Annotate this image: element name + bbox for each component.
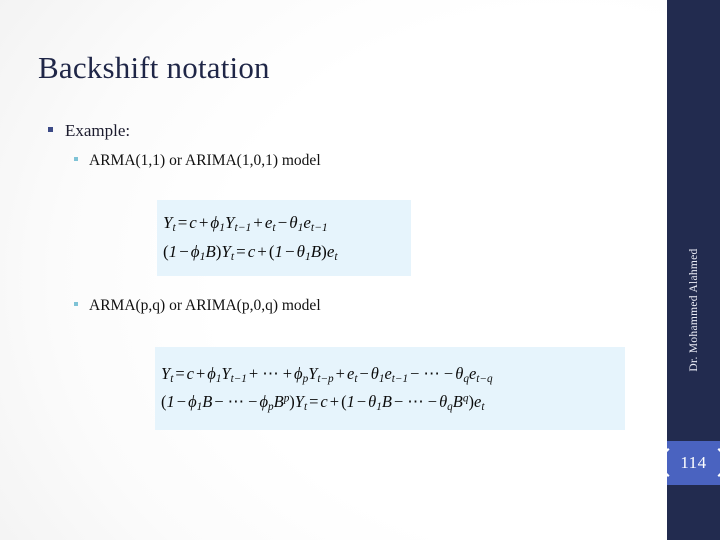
equation-box-arma-1-1: Yt=c+ϕ1Yt−1+et−θ1et−1 (1−ϕ1B)Yt=c+(1−θ1B…: [157, 200, 411, 276]
bullet-arma-1-1: ARMA(1,1) or ARIMA(1,0,1) model: [74, 152, 321, 170]
bullet-arma-p-q: ARMA(p,q) or ARIMA(p,0,q) model: [74, 297, 321, 315]
equation-line: Yt=c+ϕ1Yt−1+⋯+ϕpYt−p+et−θ1et−1−⋯−θqet−q: [155, 361, 625, 388]
slide-canvas: Backshift notation Example: ARMA(1,1) or…: [0, 0, 720, 540]
page-number-badge: ❲ 114 ❳: [667, 441, 720, 485]
bullet-example: Example:: [48, 121, 130, 141]
bracket-right-icon: ❳: [709, 447, 720, 476]
bullet-label: ARMA(1,1) or ARIMA(1,0,1) model: [89, 152, 321, 170]
sub-bullet-dot-icon: [74, 157, 78, 161]
equation-box-arma-p-q: Yt=c+ϕ1Yt−1+⋯+ϕpYt−p+et−θ1et−1−⋯−θqet−q …: [155, 347, 625, 430]
bullet-label: Example:: [65, 121, 130, 141]
bullet-label: ARMA(p,q) or ARIMA(p,0,q) model: [89, 297, 321, 315]
bullet-dot-icon: [48, 127, 53, 132]
author-name: Dr. Mohammed Alahmed: [688, 248, 700, 371]
equation-line: (1−ϕ1B)Yt=c+(1−θ1B)et: [157, 238, 411, 267]
page-number: 114: [680, 453, 706, 473]
sub-bullet-dot-icon: [74, 302, 78, 306]
page-title: Backshift notation: [38, 50, 270, 86]
equation-line: Yt=c+ϕ1Yt−1+et−θ1et−1: [157, 209, 411, 238]
bracket-left-icon: ❲: [654, 447, 678, 476]
equation-line: (1−ϕ1B−⋯−ϕpBp)Yt=c+(1−θ1B−⋯−θqBq)et: [155, 389, 625, 416]
